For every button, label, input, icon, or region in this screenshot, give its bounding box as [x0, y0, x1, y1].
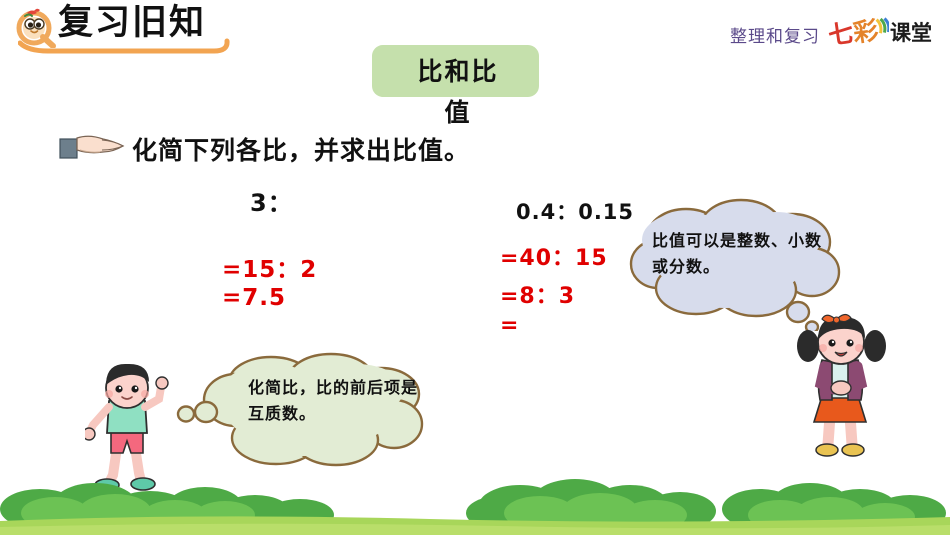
- problem-right-answer-1: =40：15: [500, 240, 608, 272]
- problem-right-question: 0.4：0.15: [516, 196, 634, 226]
- problem-left-question: 3：: [250, 183, 293, 218]
- left-bubble-text: 化简比，比的前后项是互质数。: [248, 375, 428, 427]
- girl-character-illustration: [790, 310, 895, 474]
- problem-left-answer-2: =7.5: [222, 285, 286, 311]
- slide-canvas: 复习旧知 整理和复习 七 彩 课堂 比和比 值 化简下列各比，并求出比值。 3：: [0, 0, 950, 535]
- page-title: 复习旧知: [58, 2, 206, 44]
- prompt-text: 化简下列各比，并求出比值。: [132, 131, 470, 167]
- brand-logo-icon: 七 彩 课堂: [826, 14, 938, 48]
- right-bubble-text: 比值可以是整数、小数或分数。: [652, 228, 827, 280]
- svg-text:课堂: 课堂: [890, 20, 932, 45]
- grass-bushes-decoration-icon: [0, 465, 950, 535]
- header-section-label: 整理和复习: [730, 22, 820, 47]
- pointing-hand-icon: [58, 131, 128, 163]
- svg-text:彩: 彩: [851, 16, 880, 48]
- lesson-title-line1: 比和比: [388, 52, 528, 88]
- lesson-title-line2: 值: [388, 93, 528, 129]
- problem-left-answer-1: =15：2: [222, 250, 317, 284]
- problem-right-answer-3: =: [500, 313, 519, 338]
- problem-right-answer-2: =8：3: [500, 278, 575, 310]
